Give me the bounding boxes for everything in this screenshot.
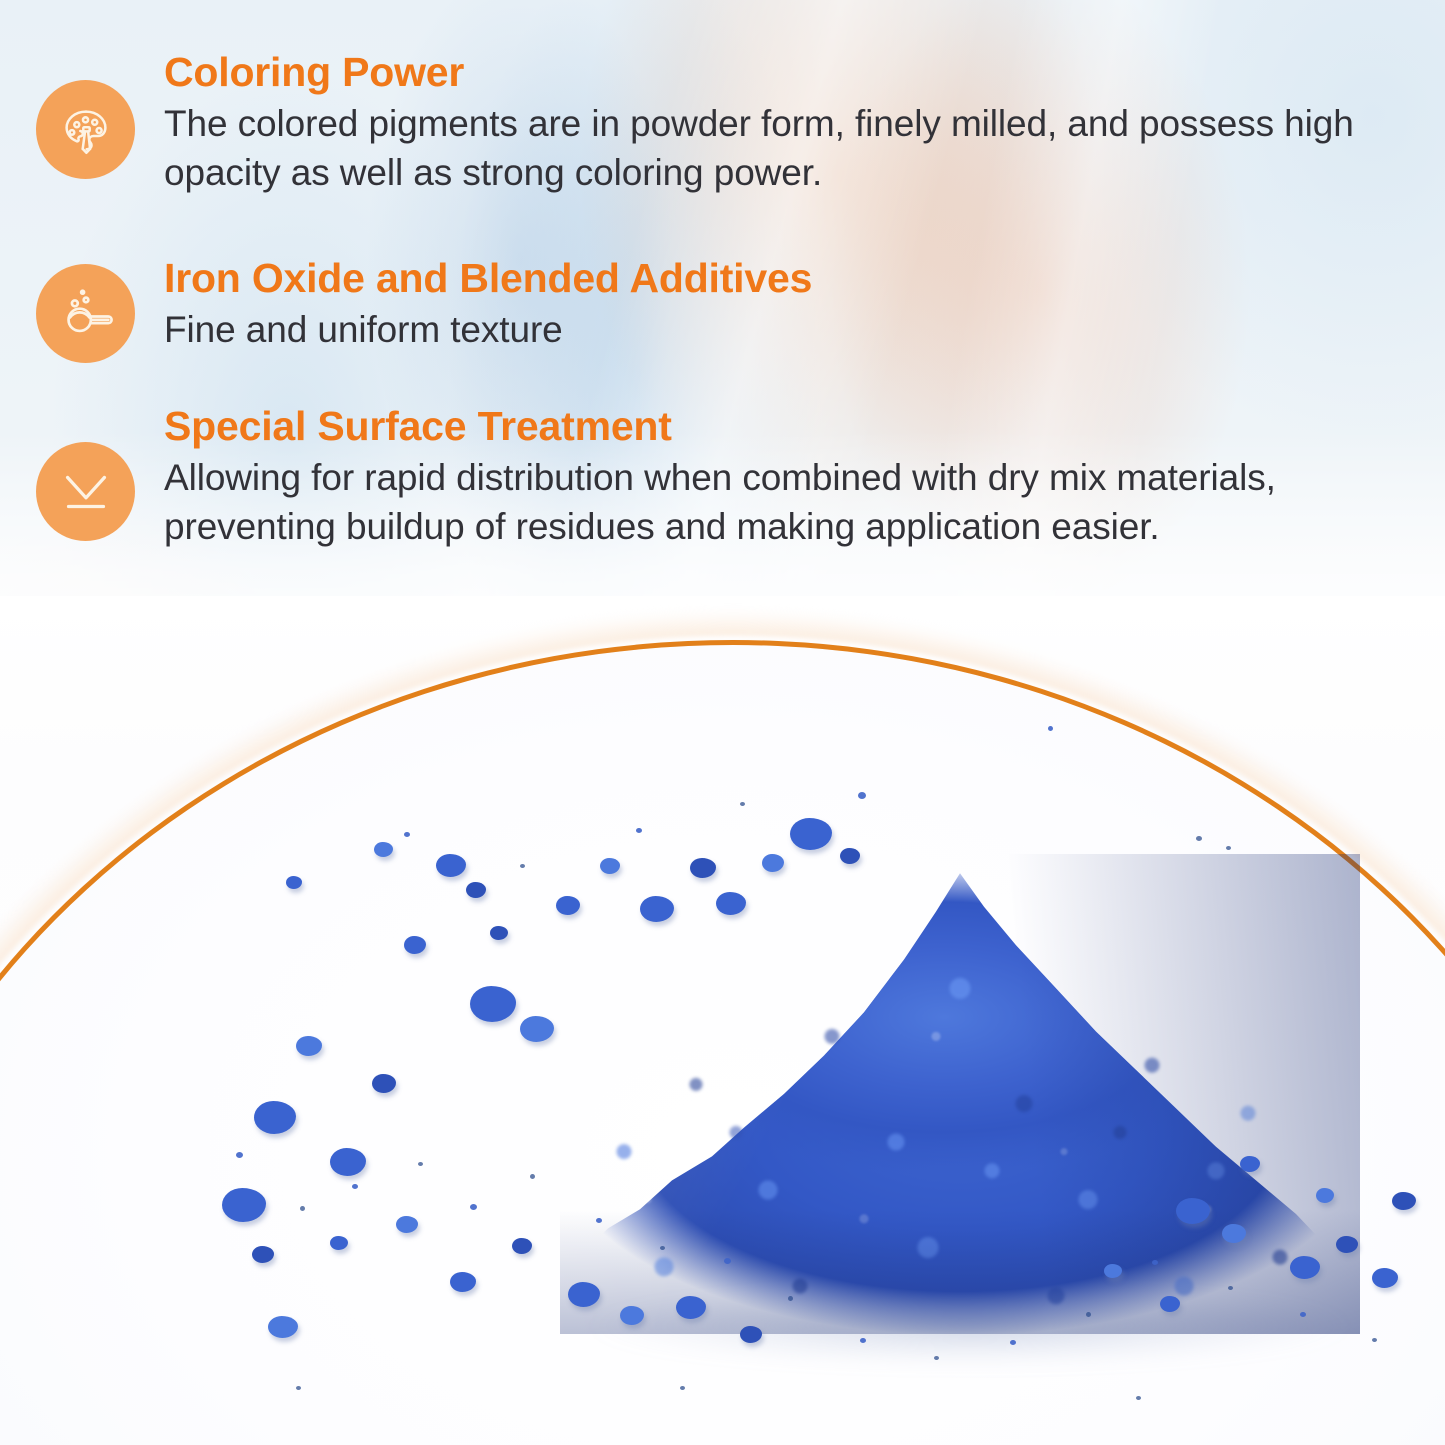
feature-item-iron-oxide-additives: Iron Oxide and Blended Additives Fine an… (36, 256, 812, 363)
powder-speck (1196, 836, 1202, 841)
feature-text-block: Coloring Power The colored pigments are … (164, 50, 1404, 198)
powder-shading (560, 854, 1360, 1334)
feature-heading: Iron Oxide and Blended Additives (164, 256, 812, 300)
measuring-spoon-icon-badge (36, 264, 135, 363)
feature-heading: Coloring Power (164, 50, 1404, 94)
powder-speck (1300, 1312, 1306, 1317)
powder-speck (1086, 1312, 1091, 1317)
powder-speck (352, 1184, 358, 1189)
feature-body: Allowing for rapid distribution when com… (164, 453, 1404, 551)
powder-speck (596, 1218, 602, 1223)
feature-body: Fine and uniform texture (164, 305, 812, 354)
powder-speck (740, 802, 745, 806)
chevron-down-to-line-icon (55, 461, 117, 523)
feature-text-block: Special Surface Treatment Allowing for r… (164, 404, 1404, 552)
chevron-down-to-line-icon-badge (36, 442, 135, 541)
measuring-spoon-icon (55, 283, 117, 345)
powder-speck (858, 792, 866, 799)
product-photo (0, 596, 1445, 1445)
feature-heading: Special Surface Treatment (164, 404, 1404, 448)
palette-icon (55, 99, 117, 161)
powder-speck (470, 1204, 477, 1210)
powder-speck (296, 1386, 301, 1390)
powder-speck (530, 1174, 535, 1179)
powder-speck (860, 1338, 866, 1343)
powder-speck (1136, 1396, 1141, 1400)
powder-speck (300, 1206, 305, 1211)
powder-speck (520, 864, 525, 868)
powder-pile (560, 854, 1360, 1334)
powder-speck (1010, 1340, 1016, 1345)
powder-speck (1228, 1286, 1233, 1290)
powder-speck (934, 1356, 939, 1360)
powder-speck (236, 1152, 243, 1158)
feature-text-block: Iron Oxide and Blended Additives Fine an… (164, 256, 812, 354)
powder-speck (1226, 846, 1231, 850)
powder-speck (680, 1386, 685, 1390)
infographic-canvas: Coloring Power The colored pigments are … (0, 0, 1445, 1445)
powder-speck (660, 1246, 665, 1250)
powder-speck (1372, 1338, 1377, 1342)
palette-icon-badge (36, 80, 135, 179)
feature-item-special-surface-treatment: Special Surface Treatment Allowing for r… (36, 404, 1404, 552)
powder-speck (404, 832, 410, 837)
powder-speck (724, 1258, 731, 1264)
powder-speck (788, 1296, 793, 1301)
powder-speck (1048, 726, 1053, 731)
powder-speck (1152, 1260, 1158, 1265)
powder-speck (418, 1162, 423, 1166)
powder-speck (636, 828, 642, 833)
feature-body: The colored pigments are in powder form,… (164, 99, 1404, 197)
feature-item-coloring-power: Coloring Power The colored pigments are … (36, 50, 1404, 198)
